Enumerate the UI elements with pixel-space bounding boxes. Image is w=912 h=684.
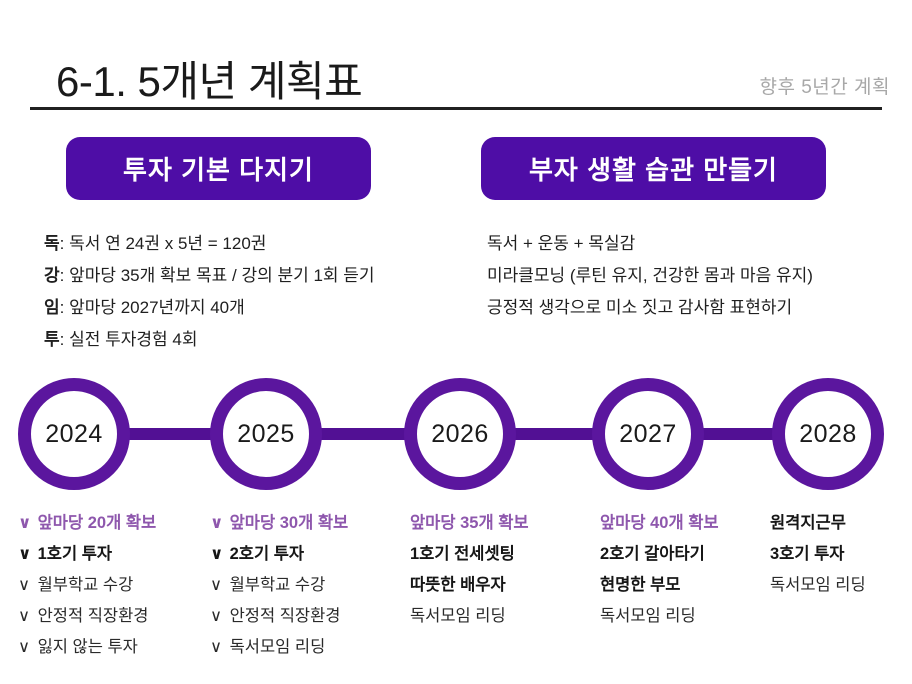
year-column-item: ∨ 안정적 직장환경 xyxy=(18,601,156,632)
year-column-item-label: 앞마당 40개 확보 xyxy=(600,514,719,532)
timeline: 20242025202620272028 xyxy=(0,378,912,490)
detail-row: 미라클모닝 (루틴 유지, 건강한 몸과 마음 유지) xyxy=(487,260,813,292)
year-column-item: ∨ 앞마당 30개 확보 xyxy=(210,508,348,539)
timeline-connector xyxy=(504,428,604,440)
detail-list-investment: 독: 독서 연 24권 x 5년 = 120권강: 앞마당 35개 확보 목표 … xyxy=(44,228,375,356)
check-mark-icon: ∨ xyxy=(210,601,225,632)
year-column-item-label: 1호기 전세셋팅 xyxy=(410,545,515,563)
check-mark-icon: ∨ xyxy=(18,570,33,601)
year-column-item-label: 3호기 투자 xyxy=(770,545,844,563)
detail-row: 강: 앞마당 35개 확보 목표 / 강의 분기 1회 듣기 xyxy=(44,260,375,292)
year-column-item-label: 2호기 갈아타기 xyxy=(600,545,705,563)
year-column-item: ∨ 독서모임 리딩 xyxy=(210,632,348,663)
year-column-item: ∨ 월부학교 수강 xyxy=(18,570,156,601)
year-column-2027: 앞마당 40개 확보2호기 갈아타기현명한 부모독서모임 리딩 xyxy=(600,508,719,632)
year-column-item: 앞마당 40개 확보 xyxy=(600,508,719,539)
timeline-node-label: 2026 xyxy=(431,420,489,449)
year-column-item-label: 독서모임 리딩 xyxy=(410,607,506,625)
detail-key: 투 xyxy=(44,330,60,349)
year-column-item: 2호기 갈아타기 xyxy=(600,539,719,570)
detail-row: 임: 앞마당 2027년까지 40개 xyxy=(44,292,375,324)
detail-value: : 실전 투자경험 4회 xyxy=(60,330,198,349)
year-column-item-label: 안정적 직장환경 xyxy=(38,607,149,625)
timeline-connector xyxy=(692,428,784,440)
section-header-lifestyle: 부자 생활 습관 만들기 xyxy=(481,137,826,200)
year-column-item-label: 안정적 직장환경 xyxy=(230,607,341,625)
year-column-item: ∨ 월부학교 수강 xyxy=(210,570,348,601)
check-mark-icon: ∨ xyxy=(18,601,33,632)
page-title: 6-1. 5개년 계획표 xyxy=(56,48,362,109)
detail-value: : 앞마당 35개 확보 목표 / 강의 분기 1회 듣기 xyxy=(60,266,375,285)
year-column-2028: 원격지근무3호기 투자독서모임 리딩 xyxy=(770,508,866,601)
title-divider xyxy=(30,107,882,110)
year-column-item-label: 따뜻한 배우자 xyxy=(410,576,506,594)
year-column-item-label: 앞마당 35개 확보 xyxy=(410,514,529,532)
year-column-item-label: 월부학교 수강 xyxy=(38,576,134,594)
year-column-item-label: 잃지 않는 투자 xyxy=(38,638,138,656)
timeline-connector xyxy=(310,428,416,440)
section-header-investment: 투자 기본 다지기 xyxy=(66,137,371,200)
timeline-node-2024[interactable]: 2024 xyxy=(18,378,130,490)
timeline-node-label: 2027 xyxy=(619,420,677,449)
year-column-item-label: 독서모임 리딩 xyxy=(230,638,326,656)
detail-key: 임 xyxy=(44,298,60,317)
year-column-item-label: 앞마당 20개 확보 xyxy=(38,514,157,532)
year-column-item: 1호기 전세셋팅 xyxy=(410,539,529,570)
timeline-node-2027[interactable]: 2027 xyxy=(592,378,704,490)
check-mark-icon: ∨ xyxy=(210,508,225,539)
detail-row: 투: 실전 투자경험 4회 xyxy=(44,324,375,356)
year-column-item: 원격지근무 xyxy=(770,508,866,539)
timeline-node-label: 2024 xyxy=(45,420,103,449)
year-column-item: ∨ 1호기 투자 xyxy=(18,539,156,570)
detail-value: : 독서 연 24권 x 5년 = 120권 xyxy=(60,234,267,253)
detail-row: 독서 + 운동 + 목실감 xyxy=(487,228,813,260)
year-column-item: ∨ 잃지 않는 투자 xyxy=(18,632,156,663)
year-column-item: 독서모임 리딩 xyxy=(600,601,719,632)
detail-list-lifestyle: 독서 + 운동 + 목실감미라클모닝 (루틴 유지, 건강한 몸과 마음 유지)… xyxy=(487,228,813,324)
timeline-node-2028[interactable]: 2028 xyxy=(772,378,884,490)
year-column-item: ∨ 안정적 직장환경 xyxy=(210,601,348,632)
page-subtitle: 향후 5년간 계획 xyxy=(759,72,890,99)
detail-value: : 앞마당 2027년까지 40개 xyxy=(60,298,245,317)
year-column-item-label: 앞마당 30개 확보 xyxy=(230,514,349,532)
year-column-2025: ∨ 앞마당 30개 확보∨ 2호기 투자∨ 월부학교 수강∨ 안정적 직장환경∨… xyxy=(210,508,348,663)
timeline-connector xyxy=(118,428,222,440)
year-column-item-label: 월부학교 수강 xyxy=(230,576,326,594)
year-column-item-label: 2호기 투자 xyxy=(230,545,304,563)
check-mark-icon: ∨ xyxy=(18,508,33,539)
timeline-node-2025[interactable]: 2025 xyxy=(210,378,322,490)
detail-key: 강 xyxy=(44,266,60,285)
year-column-item: 독서모임 리딩 xyxy=(410,601,529,632)
year-column-2024: ∨ 앞마당 20개 확보∨ 1호기 투자∨ 월부학교 수강∨ 안정적 직장환경∨… xyxy=(18,508,156,663)
timeline-node-2026[interactable]: 2026 xyxy=(404,378,516,490)
year-column-item-label: 원격지근무 xyxy=(770,514,846,532)
year-column-item: 3호기 투자 xyxy=(770,539,866,570)
check-mark-icon: ∨ xyxy=(210,632,225,663)
timeline-node-label: 2028 xyxy=(799,420,857,449)
year-column-item: ∨ 2호기 투자 xyxy=(210,539,348,570)
year-column-item-label: 현명한 부모 xyxy=(600,576,680,594)
year-column-item: 앞마당 35개 확보 xyxy=(410,508,529,539)
check-mark-icon: ∨ xyxy=(18,539,33,570)
year-column-item: ∨ 앞마당 20개 확보 xyxy=(18,508,156,539)
year-column-item: 독서모임 리딩 xyxy=(770,570,866,601)
year-column-item-label: 독서모임 리딩 xyxy=(770,576,866,594)
detail-row: 긍정적 생각으로 미소 짓고 감사함 표현하기 xyxy=(487,292,813,324)
year-column-item-label: 1호기 투자 xyxy=(38,545,112,563)
detail-row: 독: 독서 연 24권 x 5년 = 120권 xyxy=(44,228,375,260)
slide-canvas: 6-1. 5개년 계획표 향후 5년간 계획 투자 기본 다지기 부자 생활 습… xyxy=(0,0,912,684)
timeline-node-label: 2025 xyxy=(237,420,295,449)
year-column-2026: 앞마당 35개 확보1호기 전세셋팅따뜻한 배우자독서모임 리딩 xyxy=(410,508,529,632)
year-column-item: 현명한 부모 xyxy=(600,570,719,601)
year-column-item-label: 독서모임 리딩 xyxy=(600,607,696,625)
year-column-item: 따뜻한 배우자 xyxy=(410,570,529,601)
detail-key: 독 xyxy=(44,234,60,253)
check-mark-icon: ∨ xyxy=(18,632,33,663)
check-mark-icon: ∨ xyxy=(210,539,225,570)
check-mark-icon: ∨ xyxy=(210,570,225,601)
